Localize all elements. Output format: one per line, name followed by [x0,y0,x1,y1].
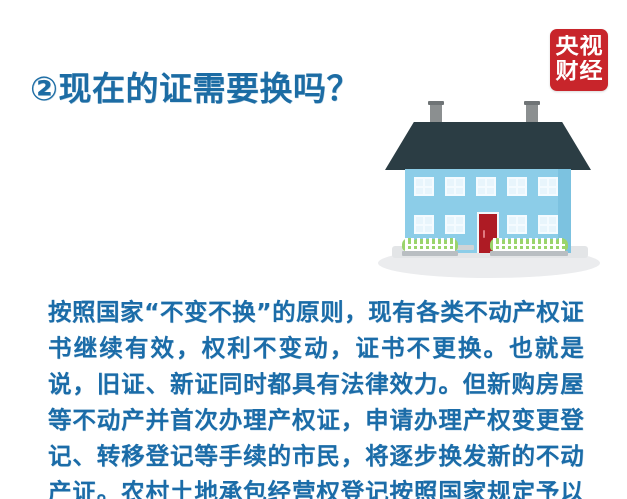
window-upper-1 [414,177,434,196]
logo-char-shi: 视 [579,35,603,60]
door-knob-icon [483,230,485,238]
house-illustration [372,96,604,281]
window-upper-3 [476,177,496,196]
cctv-finance-logo: 央 视 财 经 [550,29,608,91]
logo-row-top: 央 视 [555,35,603,60]
window-lower-4 [538,215,558,234]
roof-shape [385,122,591,170]
poster-canvas: 央 视 财 经 ②现在的证需要换吗？ [0,0,627,499]
body-paragraph: 按照国家“不变不换”的原则，现有各类不动产权证书继续有效，权利不变动，证书不更换… [48,294,584,499]
logo-char-yang: 央 [555,35,579,60]
planter-right [490,251,568,256]
logo-char-jing: 经 [579,60,603,85]
window-lower-1 [414,215,434,234]
window-lower-3 [507,215,527,234]
window-upper-4 [507,177,527,196]
planter-left [402,251,458,256]
logo-row-bottom: 财 经 [555,60,603,85]
fence-rail-left-top [405,244,455,246]
window-upper-2 [445,177,465,196]
window-upper-5 [538,177,558,196]
page-title: ②现在的证需要换吗？ [30,62,360,110]
window-lower-2 [445,215,465,234]
logo-char-cai: 财 [555,60,579,85]
fence-rail-right-top [493,244,565,246]
